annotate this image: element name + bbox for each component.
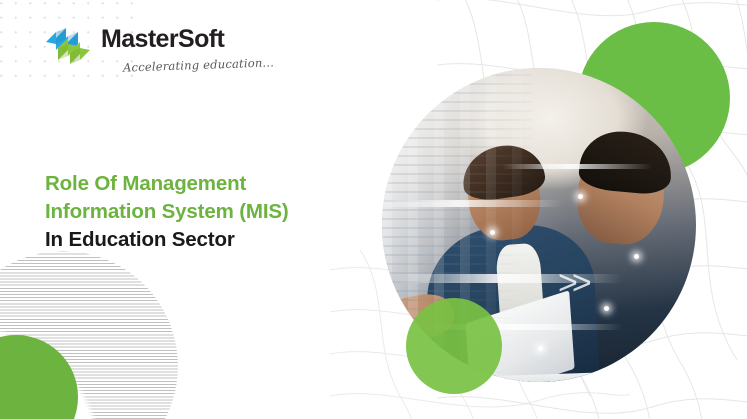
logo-tagline: Accelerating education... <box>123 55 274 74</box>
logo-wordmark: MasterSoft <box>101 27 274 52</box>
glow-dot <box>538 346 543 351</box>
headline-line-1: Role Of Management <box>45 170 375 198</box>
headline-line-3: In Education Sector <box>45 226 375 254</box>
pinwheel-arrows-icon <box>44 26 92 66</box>
glow-dot <box>634 254 639 259</box>
glow-dot <box>578 194 583 199</box>
headline-line-2: Information System (MIS) <box>45 198 375 226</box>
chevron-overlay-icon: >> <box>558 264 586 303</box>
light-streak <box>382 200 562 207</box>
glow-dot <box>604 306 609 311</box>
glow-dot <box>490 230 495 235</box>
page-title: Role Of Management Information System (M… <box>45 170 375 254</box>
blog-banner: >> MasterSoft Accelerating education... … <box>0 0 747 419</box>
light-streak <box>392 274 622 283</box>
mastersoft-logo[interactable]: MasterSoft Accelerating education... <box>44 26 274 72</box>
light-streak <box>502 164 652 169</box>
green-circle-on-photo <box>406 298 502 394</box>
